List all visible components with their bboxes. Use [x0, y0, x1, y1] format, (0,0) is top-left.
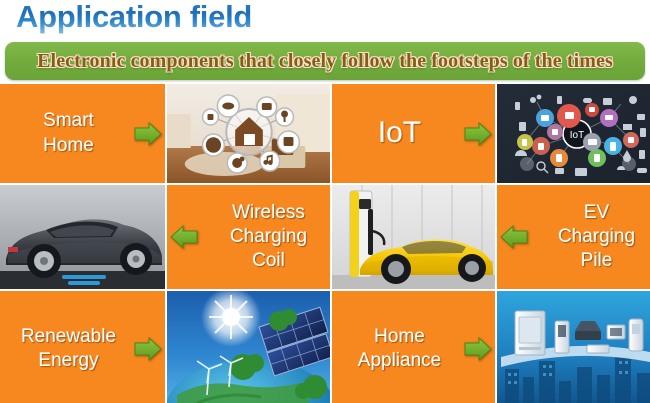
- arrow-right-icon: [131, 336, 165, 362]
- cell-wireless-charging-label[interactable]: WirelessChargingCoil: [167, 185, 330, 289]
- arrow-left-icon: [497, 224, 531, 250]
- title-bar: Application field Application field: [0, 0, 650, 40]
- label-iot: IoT: [332, 114, 461, 152]
- arrow-left-icon: [167, 224, 201, 250]
- cell-iot-label[interactable]: IoT: [332, 84, 495, 183]
- arrow-right-icon: [131, 121, 165, 147]
- arrow-right-icon: [461, 121, 495, 147]
- cell-renewable-energy-label[interactable]: RenewableEnergy: [0, 291, 165, 403]
- cell-ev-charging-image: [332, 185, 495, 289]
- cell-home-appliance-image: [497, 291, 650, 403]
- cell-iot-image: IoT: [497, 84, 650, 183]
- application-grid: SmartHome: [0, 84, 650, 403]
- cell-ev-charging-label[interactable]: EVChargingPile: [497, 185, 650, 289]
- cell-home-appliance-label[interactable]: HomeAppliance: [332, 291, 495, 403]
- cell-renewable-energy-image: [167, 291, 330, 403]
- svg-text:IoT: IoT: [570, 130, 584, 141]
- label-ev-charging-pile: EVChargingPile: [531, 201, 650, 274]
- label-home-appliance: HomeAppliance: [332, 325, 461, 374]
- subtitle-banner: Electronic components that closely follo…: [5, 42, 645, 80]
- cell-smart-home-image: [167, 84, 330, 183]
- label-smart-home: SmartHome: [0, 109, 131, 158]
- home-appliances-city-photo: [497, 291, 650, 403]
- yellow-car-charging-photo: [332, 185, 495, 289]
- cell-wireless-charging-image: [0, 185, 165, 289]
- page-title: Application field: [16, 0, 252, 35]
- label-renewable-energy: RenewableEnergy: [0, 325, 131, 374]
- grey-sports-car-photo: [0, 185, 165, 289]
- subtitle-banner-text: Electronic components that closely follo…: [5, 50, 645, 73]
- solar-earth-photo: [167, 291, 330, 403]
- iot-network-photo: IoT: [497, 84, 650, 183]
- smart-home-photo: [167, 84, 330, 183]
- arrow-right-icon: [461, 336, 495, 362]
- label-wireless-charging-coil: WirelessChargingCoil: [201, 201, 330, 274]
- slide-root: Application field Application field Elec…: [0, 0, 650, 403]
- cell-smart-home-label[interactable]: SmartHome: [0, 84, 165, 183]
